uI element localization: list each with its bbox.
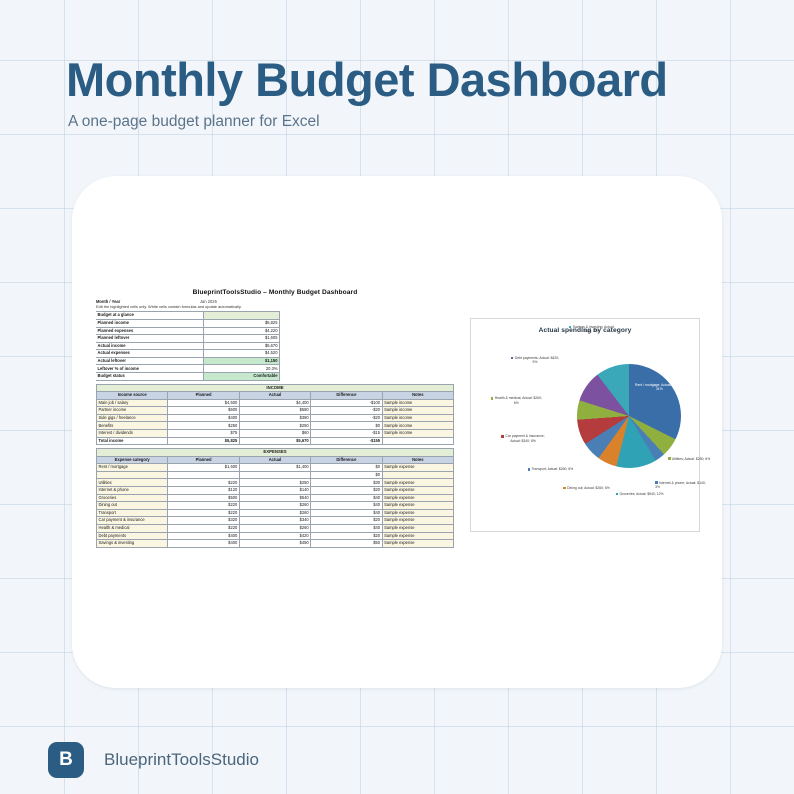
notes-cell[interactable]: Sample expense	[382, 486, 453, 494]
difference-cell: $0	[311, 464, 382, 472]
glance-spacer	[280, 342, 455, 350]
pie-slice-label: Dining out; Actual: $260; 6%	[560, 486, 612, 490]
income-column-header: Notes	[382, 392, 453, 400]
income-column-header: Actual	[239, 392, 310, 400]
category-cell[interactable]: Internet & phone	[97, 486, 168, 494]
actual-cell[interactable]: $140	[239, 486, 310, 494]
expenses-header-row: Expense categoryPlannedActualDifferenceN…	[97, 456, 454, 464]
expenses-table: EXPENSES Expense categoryPlannedActualDi…	[96, 448, 454, 548]
glance-row: Planned income$5,825	[96, 319, 454, 327]
actual-cell[interactable]: $260	[239, 502, 310, 510]
planned-cell[interactable]	[168, 471, 239, 479]
pie-legend-swatch-icon	[511, 357, 514, 360]
brand-name: BlueprintToolsStudio	[104, 750, 259, 770]
difference-cell: -$155	[311, 437, 382, 445]
pie-slice-label-text: Groceries; Actual: $540; 12%	[620, 492, 664, 496]
glance-row: Actual leftover$1,150	[96, 357, 454, 365]
table-row: $0	[97, 471, 454, 479]
table-row: Car payment & insurance$320$340$20Sample…	[97, 517, 454, 525]
pie-legend-swatch-icon	[501, 435, 504, 438]
table-row: Transport$220$260$40Sample expense	[97, 509, 454, 517]
planned-cell[interactable]: $320	[168, 517, 239, 525]
category-cell[interactable]: Car payment & insurance	[97, 517, 168, 525]
income-total-row: Total income$5,825$5,670-$155	[97, 437, 454, 445]
glance-label: Actual leftover	[96, 357, 204, 365]
pie-slice-label-text: Debt payments; Actual: $420; 9%	[515, 356, 559, 364]
actual-cell[interactable]	[239, 471, 310, 479]
brand-footer: B BlueprintToolsStudio	[48, 742, 259, 778]
notes-cell[interactable]: Sample expense	[382, 464, 453, 472]
pie-slice-label-text: Car payment & insurance; Actual: $340; 8…	[505, 434, 544, 442]
planned-cell[interactable]: $500	[168, 494, 239, 502]
table-row: Partner income$600$580-$20Sample income	[97, 407, 454, 415]
actual-cell[interactable]: $260	[239, 509, 310, 517]
glance-spacer	[280, 365, 455, 373]
actual-cell[interactable]: $260	[239, 524, 310, 532]
planned-cell[interactable]: $400	[168, 532, 239, 540]
pie-slice-label: Rent / mortgage; Actual: $1,400; 31%	[633, 383, 685, 392]
glance-row: Actual expenses$4,520	[96, 350, 454, 358]
glance-spacer	[280, 327, 455, 335]
actual-cell[interactable]: $340	[239, 517, 310, 525]
difference-cell: $30	[311, 479, 382, 487]
glance-value[interactable]: $1,605	[204, 335, 280, 343]
table-row: Internet & phone$120$140$20Sample expens…	[97, 486, 454, 494]
difference-cell: -$20	[311, 407, 382, 415]
income-header-row: Income sourcePlannedActualDifferenceNote…	[97, 392, 454, 400]
category-cell[interactable]: Partner income	[97, 407, 168, 415]
pie-slice-label: Health & medical; Actual: $260; 6%	[490, 396, 542, 405]
category-cell[interactable]: Interest / dividends	[97, 430, 168, 438]
table-row: Benefits$250$250$0Sample income	[97, 422, 454, 430]
glance-value[interactable]: $5,825	[204, 319, 280, 327]
glance-header-cell: Budget at a glance	[96, 312, 204, 320]
expenses-section: EXPENSES Expense categoryPlannedActualDi…	[96, 448, 454, 548]
difference-cell: -$15	[311, 430, 382, 438]
actual-cell[interactable]: $250	[239, 422, 310, 430]
actual-cell[interactable]: $450	[239, 540, 310, 548]
glance-spacer	[280, 335, 455, 343]
actual-cell[interactable]: $580	[239, 407, 310, 415]
spending-pie-chart-panel: Actual spending by category Rent / mortg…	[470, 318, 700, 532]
table-row: Savings & investing$400$450$50Sample exp…	[97, 540, 454, 548]
planned-cell[interactable]: $600	[168, 407, 239, 415]
glance-value[interactable]: Comfortable	[204, 373, 280, 381]
glance-spacer	[280, 357, 455, 365]
glance-spacer	[280, 319, 455, 327]
table-row: Dining out$220$260$40Sample expense	[97, 502, 454, 510]
planned-cell[interactable]: $1,600	[168, 464, 239, 472]
glance-label: Actual expenses	[96, 350, 204, 358]
difference-cell: $20	[311, 517, 382, 525]
pie-slice-label-text: Rent / mortgage; Actual: $1,400; 31%	[635, 383, 684, 391]
actual-cell[interactable]: $4,400	[239, 399, 310, 407]
pie-legend-swatch-icon	[491, 397, 494, 400]
page-subtitle: A one-page budget planner for Excel	[68, 113, 320, 131]
notes-cell[interactable]: Sample expense	[382, 479, 453, 487]
brand-badge-icon: B	[48, 742, 84, 778]
expenses-column-header: Difference	[311, 456, 382, 464]
category-cell[interactable]: Benefits	[97, 422, 168, 430]
page-root: Monthly Budget Dashboard A one-page budg…	[0, 0, 794, 794]
expenses-column-header: Expense category	[97, 456, 168, 464]
notes-cell[interactable]: Sample income	[382, 422, 453, 430]
category-cell[interactable]: Rent / mortgage	[97, 464, 168, 472]
category-cell[interactable]: Side gigs / freelance	[97, 414, 168, 422]
pie-legend-swatch-icon	[569, 326, 572, 329]
expenses-band-title: EXPENSES	[97, 449, 454, 456]
category-cell[interactable]: Health & medical	[97, 524, 168, 532]
pie-slice-label-text: Dining out; Actual: $260; 6%	[567, 486, 610, 490]
planned-cell[interactable]: $250	[168, 422, 239, 430]
category-cell[interactable]: Savings & investing	[97, 540, 168, 548]
difference-cell: -$100	[311, 399, 382, 407]
edit-hint: Edit the highlighted cells only. White c…	[96, 305, 454, 309]
glance-row: Planned expenses$4,220	[96, 327, 454, 335]
glance-row: Leftover % of income20.3%	[96, 365, 454, 373]
glance-row: Actual income$5,670	[96, 342, 454, 350]
glance-label: Planned income	[96, 319, 204, 327]
difference-cell: $20	[311, 532, 382, 540]
actual-cell[interactable]: $60	[239, 430, 310, 438]
spreadsheet-preview: BlueprintToolsStudio – Monthly Budget Da…	[96, 290, 454, 548]
pie-slice-label: Car payment & insurance; Actual: $340; 8…	[497, 434, 549, 443]
pie-slice-label-text: Transport; Actual: $260; 6%	[531, 467, 573, 471]
glance-label: Planned leftover	[96, 335, 204, 343]
planned-cell[interactable]: $120	[168, 486, 239, 494]
glance-label: Leftover % of income	[96, 365, 204, 373]
notes-cell[interactable]: Sample expense	[382, 524, 453, 532]
table-row: Rent / mortgage$1,600$1,400$0Sample expe…	[97, 464, 454, 472]
pie-slice-label: Utilities; Actual: $250; 6%	[668, 457, 720, 461]
table-row: Side gigs / freelance$400$380-$20Sample …	[97, 414, 454, 422]
planned-cell[interactable]: $220	[168, 502, 239, 510]
income-table: INCOME Income sourcePlannedActualDiffere…	[96, 384, 454, 446]
planned-cell: $5,825	[168, 437, 239, 445]
glance-label: Actual income	[96, 342, 204, 350]
actual-cell[interactable]: $250	[239, 479, 310, 487]
income-column-header: Difference	[311, 392, 382, 400]
pie-slice-label: Internet & phone; Actual: $140; 3%	[655, 481, 707, 490]
glance-spacer	[280, 350, 455, 358]
income-column-header: Planned	[168, 392, 239, 400]
difference-cell: $40	[311, 509, 382, 517]
planned-cell[interactable]: $75	[168, 430, 239, 438]
planned-cell[interactable]: $4,500	[168, 399, 239, 407]
table-row: Interest / dividends$75$60-$15Sample inc…	[97, 430, 454, 438]
glance-value[interactable]: $4,220	[204, 327, 280, 335]
pie-slice-label: Groceries; Actual: $540; 12%	[614, 492, 666, 496]
expenses-column-header: Planned	[168, 456, 239, 464]
page-title: Monthly Budget Dashboard	[66, 52, 668, 107]
notes-cell[interactable]: Sample expense	[382, 532, 453, 540]
pie-chart	[577, 364, 681, 468]
table-row: Health & medical$220$260$40Sample expens…	[97, 524, 454, 532]
planned-cell[interactable]: $220	[168, 479, 239, 487]
difference-cell: $50	[311, 540, 382, 548]
notes-cell[interactable]	[382, 471, 453, 479]
spreadsheet-title: BlueprintToolsStudio – Monthly Budget Da…	[96, 290, 454, 297]
category-cell[interactable]: Main job / salary	[97, 399, 168, 407]
glance-value[interactable]: $1,150	[204, 357, 280, 365]
notes-cell[interactable]: Sample expense	[382, 540, 453, 548]
notes-cell[interactable]: Sample expense	[382, 509, 453, 517]
pie-slice-label-text: Health & medical; Actual: $260; 6%	[495, 396, 542, 404]
category-cell: Total income	[97, 437, 168, 445]
actual-cell[interactable]: $380	[239, 414, 310, 422]
difference-cell: $0	[311, 471, 382, 479]
notes-cell[interactable]: Sample income	[382, 399, 453, 407]
planned-cell[interactable]: $400	[168, 540, 239, 548]
glance-value[interactable]: $4,520	[204, 350, 280, 358]
planned-cell[interactable]: $220	[168, 509, 239, 517]
pie-slice-label: Debt payments; Actual: $420; 9%	[509, 356, 561, 365]
table-row: Groceries$500$540$40Sample expense	[97, 494, 454, 502]
pie-legend-swatch-icon	[668, 457, 671, 460]
glance-row: Planned leftover$1,605	[96, 335, 454, 343]
table-row: Main job / salary$4,500$4,400-$100Sample…	[97, 399, 454, 407]
actual-cell[interactable]: $540	[239, 494, 310, 502]
pie-legend-swatch-icon	[563, 487, 566, 490]
budget-at-a-glance-table: Budget at a glancePlanned income$5,825Pl…	[96, 311, 454, 380]
glance-label: Planned expenses	[96, 327, 204, 335]
notes-cell[interactable]: Sample expense	[382, 494, 453, 502]
difference-cell: $0	[311, 422, 382, 430]
notes-cell[interactable]: Sample income	[382, 414, 453, 422]
glance-label: Budget status	[96, 373, 204, 381]
actual-cell[interactable]: $420	[239, 532, 310, 540]
category-cell[interactable]: Dining out	[97, 502, 168, 510]
notes-cell[interactable]: Sample expense	[382, 502, 453, 510]
actual-cell: $5,670	[239, 437, 310, 445]
pie-slice-label-text: Internet & phone; Actual: $140; 3%	[655, 481, 706, 489]
pie-slice-label: Transport; Actual: $260; 6%	[524, 467, 576, 471]
income-band-title: INCOME	[97, 384, 454, 391]
category-cell[interactable]	[97, 471, 168, 479]
glance-header-row: Budget at a glance	[96, 312, 454, 320]
difference-cell: $40	[311, 494, 382, 502]
planned-cell[interactable]: $400	[168, 414, 239, 422]
category-cell[interactable]: Transport	[97, 509, 168, 517]
expenses-column-header: Notes	[382, 456, 453, 464]
pie-legend-swatch-icon	[528, 468, 531, 471]
notes-cell	[382, 437, 453, 445]
expenses-column-header: Actual	[239, 456, 310, 464]
category-cell[interactable]: Debt payments	[97, 532, 168, 540]
pie-slice-label-text: Utilities; Actual: $250; 6%	[672, 457, 710, 461]
income-column-header: Income source	[97, 392, 168, 400]
difference-cell: $20	[311, 486, 382, 494]
notes-cell[interactable]: Sample expense	[382, 517, 453, 525]
difference-cell: $40	[311, 524, 382, 532]
glance-value[interactable]: 20.3%	[204, 365, 280, 373]
glance-spacer	[280, 373, 455, 381]
pie-slice-label: Savings & investing; Actual: $450; 10%	[566, 325, 618, 334]
planned-cell[interactable]: $220	[168, 524, 239, 532]
table-row: Debt payments$400$420$20Sample expense	[97, 532, 454, 540]
notes-cell[interactable]: Sample income	[382, 407, 453, 415]
pie-legend-swatch-icon	[616, 493, 619, 496]
glance-value[interactable]: $5,670	[204, 342, 280, 350]
category-cell[interactable]: Utilities	[97, 479, 168, 487]
category-cell[interactable]: Groceries	[97, 494, 168, 502]
glance-row: Budget statusComfortable	[96, 373, 454, 381]
difference-cell: -$20	[311, 414, 382, 422]
difference-cell: $40	[311, 502, 382, 510]
pie-legend-swatch-icon	[655, 481, 658, 484]
income-section: INCOME Income sourcePlannedActualDiffere…	[96, 384, 454, 446]
pie-slice-label-text: Savings & investing; Actual: $450; 10%	[573, 325, 615, 333]
table-row: Utilities$220$250$30Sample expense	[97, 479, 454, 487]
notes-cell[interactable]: Sample income	[382, 430, 453, 438]
actual-cell[interactable]: $1,400	[239, 464, 310, 472]
